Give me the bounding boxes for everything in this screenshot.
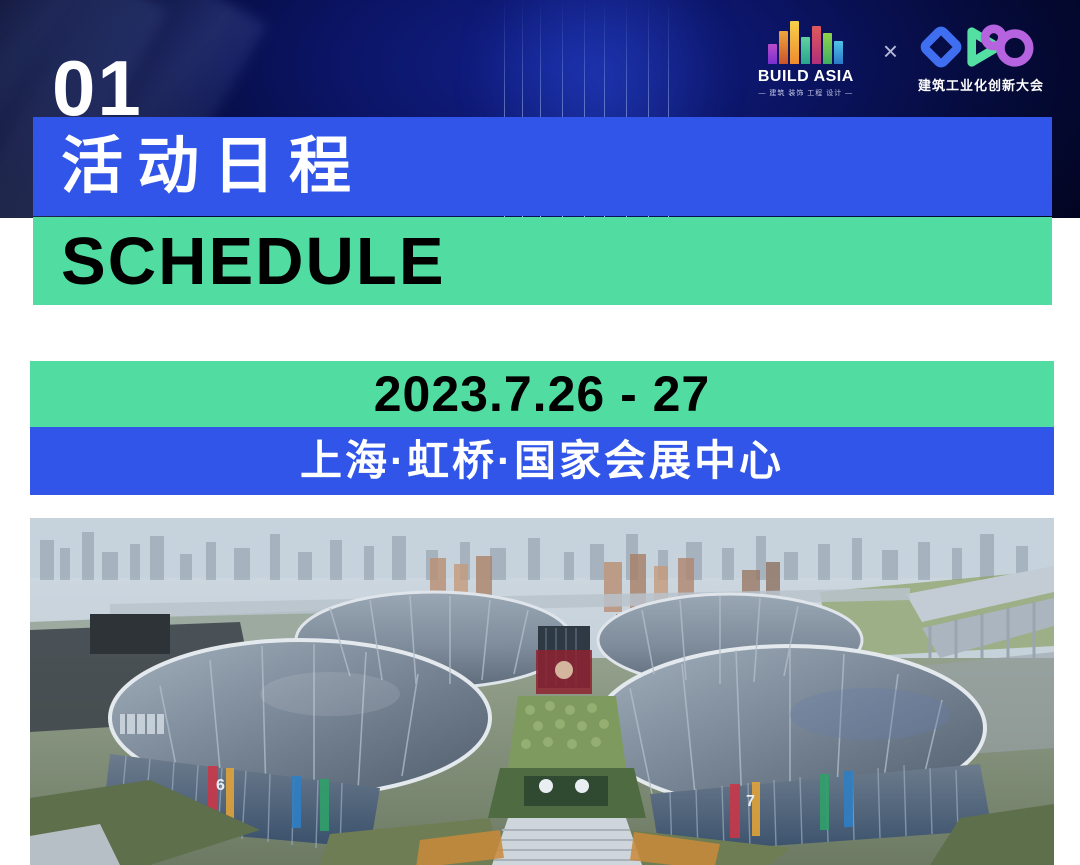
poster-canvas: 01 BUILD ASIA — 建筑 装饰 工程 设计 — × 建筑工业化创新大… bbox=[0, 0, 1080, 865]
location-bar: 上海·虹桥·国家会展中心 bbox=[30, 427, 1054, 495]
logo-conference[interactable]: 建筑工业化创新大会 bbox=[916, 24, 1046, 94]
title-chinese: 活动日程 bbox=[61, 136, 365, 198]
logo-build-asia-subtitle: — 建筑 装饰 工程 设计 — bbox=[758, 88, 853, 98]
date-bar: 2023.7.26 - 27 bbox=[30, 361, 1054, 427]
section-number: 01 bbox=[52, 49, 143, 127]
title-english: SCHEDULE bbox=[61, 228, 446, 295]
logo-lockup: BUILD ASIA — 建筑 装饰 工程 设计 — × 建筑工业化创新大会 bbox=[747, 20, 1046, 98]
colored-buildings-bars-icon bbox=[768, 20, 843, 64]
event-date: 2023.7.26 - 27 bbox=[374, 369, 711, 419]
logo-build-asia-name: BUILD ASIA bbox=[758, 68, 854, 86]
event-location: 上海·虹桥·国家会展中心 bbox=[300, 440, 784, 482]
interlocking-loops-icon bbox=[919, 24, 1044, 70]
svg-text:7: 7 bbox=[746, 793, 755, 810]
logo-build-asia[interactable]: BUILD ASIA — 建筑 装饰 工程 设计 — bbox=[747, 20, 865, 98]
venue-photo: 6 7 bbox=[30, 518, 1054, 865]
logo-conference-name: 建筑工业化创新大会 bbox=[918, 75, 1044, 94]
title-bar-chinese: 活动日程 bbox=[33, 117, 1052, 216]
logo-separator-x-icon: × bbox=[883, 38, 898, 64]
title-bar-english: SCHEDULE bbox=[33, 217, 1052, 305]
svg-text:6: 6 bbox=[216, 777, 225, 794]
venue-photo-illustration: 6 7 bbox=[30, 518, 1054, 865]
